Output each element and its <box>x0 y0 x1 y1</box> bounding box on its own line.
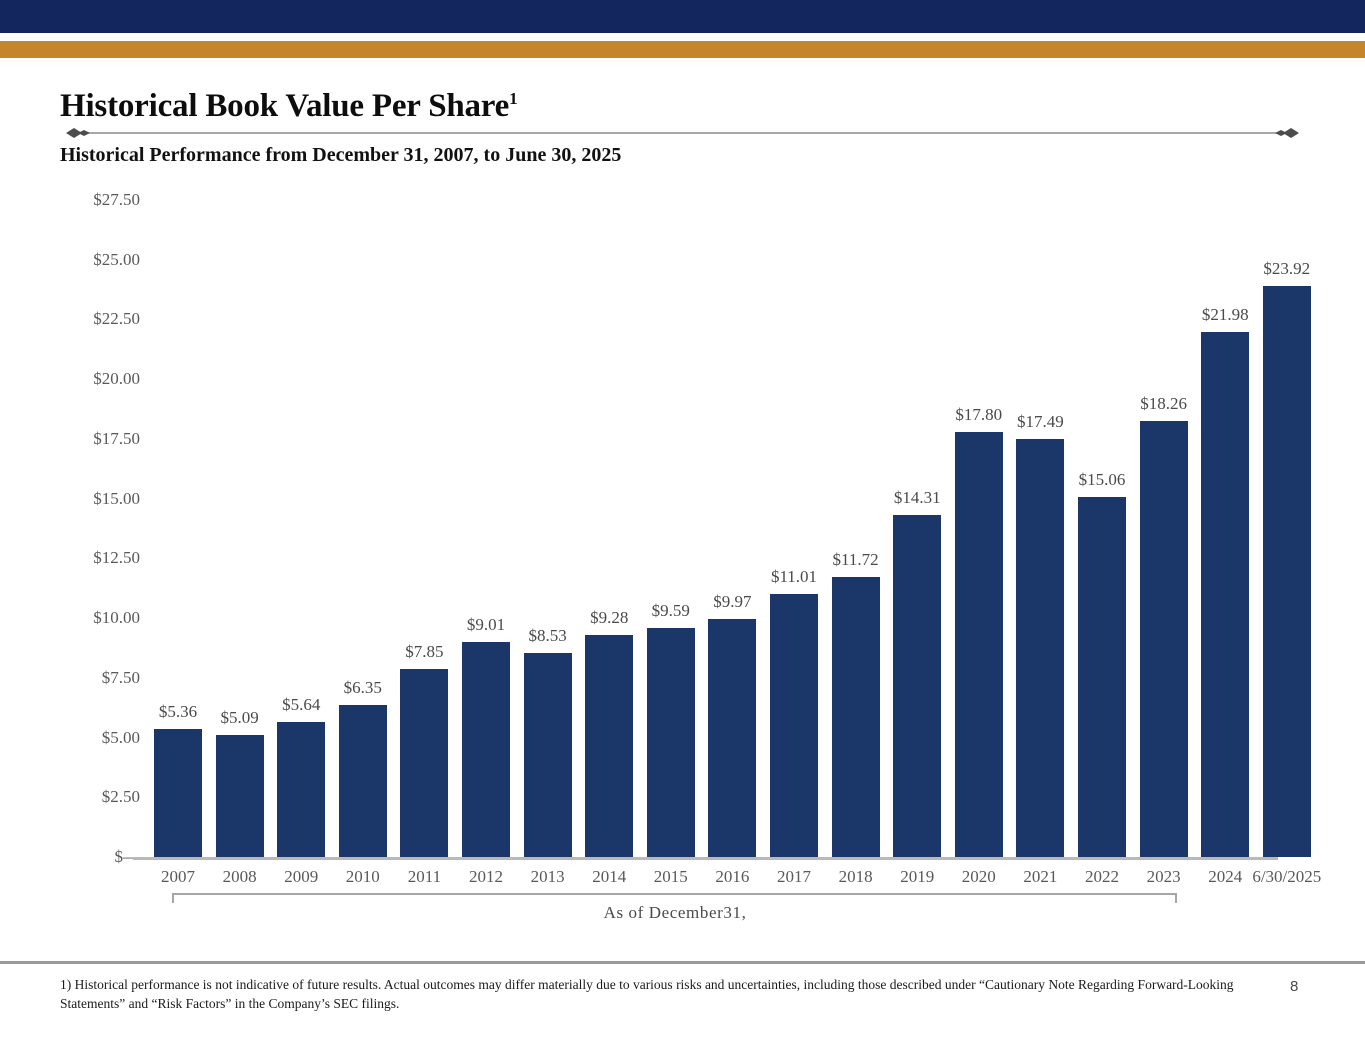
bar-value-label: $8.53 <box>528 626 566 646</box>
bracket-right-tick <box>1175 893 1177 903</box>
x-axis-tick-label: 2012 <box>469 867 503 887</box>
bar[interactable] <box>585 635 633 857</box>
x-axis-tick-label: 2022 <box>1085 867 1119 887</box>
bar-value-label: $17.49 <box>1017 412 1064 432</box>
bar-value-label: $5.36 <box>159 702 197 722</box>
bar-value-label: $11.01 <box>771 567 817 587</box>
bar-value-label: $9.97 <box>713 592 751 612</box>
y-axis-tick-label: $5.00 <box>50 728 140 748</box>
bar-value-label: $6.35 <box>344 678 382 698</box>
x-axis-tick-label: 2018 <box>839 867 873 887</box>
x-axis-tick-label: 2008 <box>223 867 257 887</box>
x-axis-tick-label: 2007 <box>161 867 195 887</box>
bar-value-label: $17.80 <box>955 405 1002 425</box>
bar-chart: $—$2.50$5.00$7.50$10.00$12.50$15.00$17.5… <box>0 0 1365 1055</box>
page-number: 8 <box>1290 978 1298 995</box>
y-axis-tick-label: $— <box>50 847 140 867</box>
bar[interactable] <box>462 642 510 857</box>
x-axis-tick-label: 2024 <box>1208 867 1242 887</box>
bar-value-label: $7.85 <box>405 642 443 662</box>
x-axis-tick-label: 2021 <box>1023 867 1057 887</box>
y-axis-tick-label: $2.50 <box>50 787 140 807</box>
bar[interactable] <box>1016 439 1064 857</box>
y-axis-tick-label: $20.00 <box>50 369 140 389</box>
x-axis-tick-label: 2020 <box>962 867 996 887</box>
x-axis-tick-label: 2015 <box>654 867 688 887</box>
footer-divider <box>0 961 1365 964</box>
x-axis-tick-label: 2010 <box>346 867 380 887</box>
x-axis-tick-label: 2009 <box>284 867 318 887</box>
bar[interactable] <box>1140 421 1188 857</box>
x-axis-tick-label: 2011 <box>408 867 441 887</box>
bar[interactable] <box>955 432 1003 857</box>
y-axis-tick-label: $25.00 <box>50 250 140 270</box>
bar-value-label: $9.28 <box>590 608 628 628</box>
bar[interactable] <box>832 577 880 857</box>
bar-value-label: $11.72 <box>833 550 879 570</box>
y-axis-tick-label: $7.50 <box>50 668 140 688</box>
bar-value-label: $15.06 <box>1079 470 1126 490</box>
bar[interactable] <box>1263 286 1311 857</box>
bar[interactable] <box>277 722 325 857</box>
bar[interactable] <box>770 594 818 857</box>
bar[interactable] <box>708 619 756 857</box>
y-axis-tick-label: $10.00 <box>50 608 140 628</box>
x-axis-tick-label: 2016 <box>715 867 749 887</box>
bar-value-label: $9.59 <box>652 601 690 621</box>
bar[interactable] <box>339 705 387 857</box>
x-axis-tick-label: 2013 <box>531 867 565 887</box>
x-axis-tick-label: 2019 <box>900 867 934 887</box>
bar[interactable] <box>524 653 572 857</box>
bar-value-label: $18.26 <box>1140 394 1187 414</box>
y-axis-tick-label: $27.50 <box>50 190 140 210</box>
y-axis: $—$2.50$5.00$7.50$10.00$12.50$15.00$17.5… <box>30 0 140 1055</box>
bracket-left-tick <box>172 893 174 903</box>
bar[interactable] <box>647 628 695 857</box>
x-axis-label: As of December31, <box>604 903 747 923</box>
y-axis-tick-label: $17.50 <box>50 429 140 449</box>
bar[interactable] <box>893 515 941 857</box>
x-axis-tick-label: 6/30/2025 <box>1252 867 1321 887</box>
y-axis-tick-label: $15.00 <box>50 489 140 509</box>
x-axis-tick-label: 2017 <box>777 867 811 887</box>
bracket-horizontal <box>172 893 1177 895</box>
bar[interactable] <box>154 729 202 857</box>
x-axis-tick-label: 2023 <box>1147 867 1181 887</box>
bar-value-label: $21.98 <box>1202 305 1249 325</box>
x-axis-line <box>133 857 1278 860</box>
bar-value-label: $23.92 <box>1263 259 1310 279</box>
x-axis-tick-label: 2014 <box>592 867 626 887</box>
bar[interactable] <box>1201 332 1249 857</box>
bar-value-label: $5.09 <box>220 708 258 728</box>
bar-value-label: $14.31 <box>894 488 941 508</box>
bar[interactable] <box>400 669 448 857</box>
bar-value-label: $5.64 <box>282 695 320 715</box>
footnote-text: 1) Historical performance is not indicat… <box>60 975 1240 1013</box>
y-axis-tick-label: $12.50 <box>50 548 140 568</box>
bar[interactable] <box>216 735 264 857</box>
bar-value-label: $9.01 <box>467 615 505 635</box>
bar[interactable] <box>1078 497 1126 857</box>
y-axis-tick-label: $22.50 <box>50 309 140 329</box>
